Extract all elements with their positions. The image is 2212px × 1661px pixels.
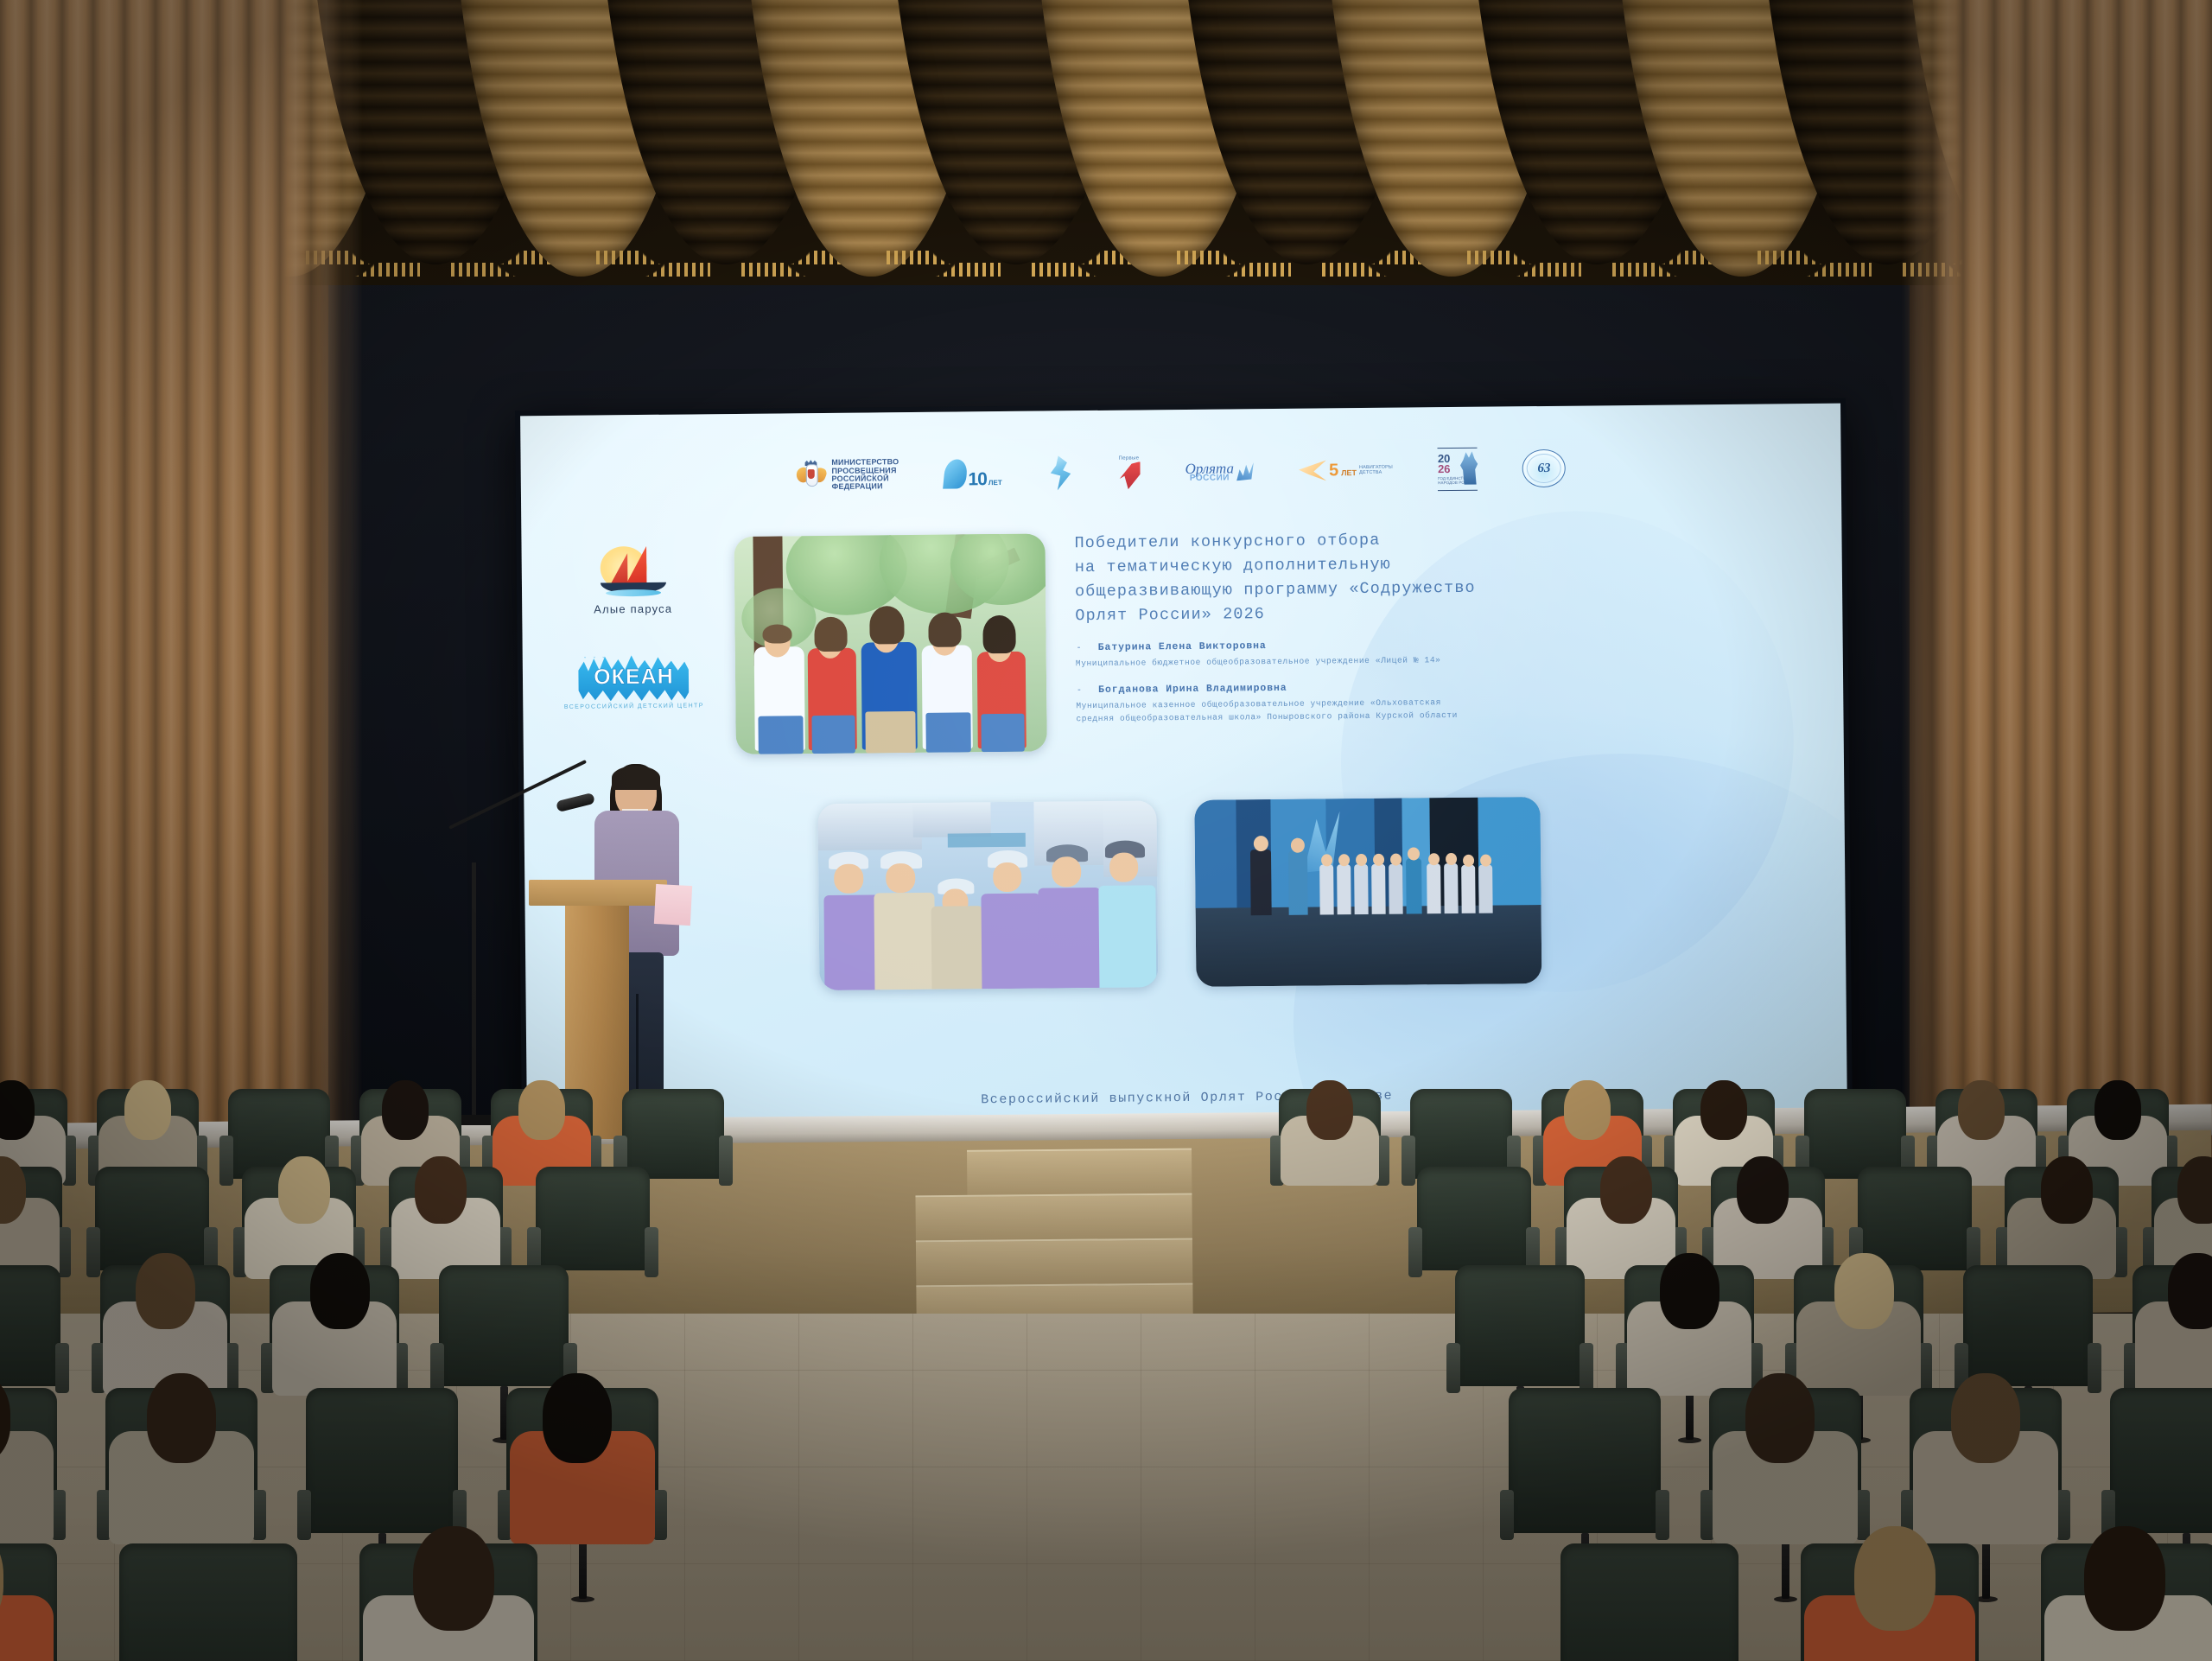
- winner-entry: - Богданова Ирина Владимировна Муниципал…: [1076, 678, 1750, 725]
- audience-member: [0, 1388, 57, 1533]
- logo-orlyata-rossii: Орлята РОССИИ: [1185, 461, 1254, 483]
- audience-member: [1711, 1167, 1825, 1270]
- audience-member: [0, 1167, 62, 1270]
- audience-member: [105, 1388, 257, 1533]
- auditorium-seat: [2110, 1388, 2212, 1533]
- audience-member-head: [147, 1373, 217, 1463]
- audience-member-head: [2094, 1080, 2141, 1140]
- entry-dash: -: [1077, 643, 1081, 653]
- audience-member-torso: [0, 1431, 54, 1544]
- audience-member-head: [543, 1373, 613, 1463]
- seat-armrest: [430, 1343, 444, 1393]
- seat-armrest: [1402, 1136, 1415, 1186]
- alye-parusa-label: Алые паруса: [594, 602, 672, 616]
- winner-organization: Муниципальное бюджетное общеобразователь…: [1076, 651, 1750, 671]
- slide-left-logos: Алые паруса ˯ ˯ ˯ ОКЕАН Всероссийский де…: [553, 544, 715, 710]
- seagulls-icon: ˯ ˯ ˯: [583, 648, 621, 662]
- audience-member-head: [0, 1080, 35, 1140]
- double-headed-eagle-icon: [796, 460, 825, 491]
- audience-member-head: [1951, 1373, 2021, 1463]
- circular-seal-icon: 63: [1522, 449, 1566, 487]
- audience-member-head: [124, 1080, 171, 1140]
- logo-ministry-of-education: МИНИСТЕРСТВО ПРОСВЕЩЕНИЯ РОССИЙСКОЙ ФЕДЕ…: [796, 458, 899, 492]
- seat-armrest: [1500, 1490, 1514, 1540]
- seat-armrest: [219, 1136, 233, 1186]
- photo-stage-ceremony: [1194, 797, 1541, 987]
- logo-prosvetitelstvo: 10 ЛЕТ: [944, 459, 1002, 489]
- auditorium-seat: [439, 1265, 569, 1386]
- seat-armrest: [297, 1490, 311, 1540]
- audience-member: [0, 1543, 57, 1661]
- audience-member-head: [1958, 1080, 2005, 1140]
- audience-member: [1935, 1089, 2037, 1179]
- seat-armrest: [1446, 1343, 1460, 1393]
- seat-armrest: [86, 1227, 100, 1277]
- audience-member-head: [415, 1156, 467, 1224]
- auditorium-seat: [1560, 1543, 1738, 1661]
- audience-member: [1709, 1388, 1861, 1533]
- auditorium-seat: [1509, 1388, 1661, 1533]
- seat-armrest: [1656, 1490, 1669, 1540]
- entry-dash: -: [1077, 684, 1081, 695]
- movement-icon: [1046, 455, 1072, 490]
- lectern-top: [529, 880, 667, 906]
- okean-word: ОКЕАН: [578, 664, 689, 690]
- slide-text-block: Победители конкурсного отбора на тематич…: [1074, 525, 1750, 726]
- seat-armrest: [645, 1227, 658, 1277]
- photo-children-on-bench: [734, 534, 1046, 754]
- slide-logo-strip: МИНИСТЕРСТВО ПРОСВЕЩЕНИЯ РОССИЙСКОЙ ФЕДЕ…: [520, 426, 1841, 519]
- audience-member-head: [2177, 1156, 2212, 1224]
- lectern-papers: [654, 884, 692, 926]
- presenter-fringe: [612, 766, 660, 790]
- audience-member: [389, 1167, 503, 1270]
- audience-member: [1564, 1167, 1678, 1270]
- audience-member-torso: [0, 1595, 54, 1661]
- seat-armrest: [1580, 1343, 1593, 1393]
- audience-member-head: [1834, 1253, 1894, 1329]
- audience-member-head: [2041, 1156, 2094, 1224]
- audience-member: [359, 1543, 537, 1661]
- seat-armrest: [1408, 1227, 1422, 1277]
- swoop-icon: [943, 459, 968, 488]
- presentation-slide: МИНИСТЕРСТВО ПРОСВЕЩЕНИЯ РОССИЙСКОЙ ФЕДЕ…: [520, 404, 1847, 1128]
- audience-member-head: [136, 1253, 195, 1329]
- logo-year-2026: 20 26 ГОД ЕДИНСТВА НАРОДОВ РОССИИ: [1438, 448, 1478, 491]
- wing-icon: [1236, 461, 1254, 480]
- audience-member: [100, 1265, 230, 1386]
- seat-armrest: [2088, 1343, 2101, 1393]
- nav5-sub: НАВИГАТОРЫ ДЕТСТВА: [1359, 465, 1393, 475]
- audience-member-head: [2084, 1526, 2166, 1631]
- auditorium-seat: [306, 1388, 458, 1533]
- audience-member-head: [278, 1156, 331, 1224]
- slide-title: Победители конкурсного отбора на тематич…: [1074, 525, 1749, 629]
- audience-member-head: [1306, 1080, 1353, 1140]
- audience-member: [491, 1089, 593, 1179]
- auditorium-seat: [536, 1167, 650, 1270]
- logo-alye-parusa: Алые паруса: [593, 544, 672, 616]
- audience-member: [1794, 1265, 1923, 1386]
- logo-okean: ˯ ˯ ˯ ОКЕАН Всероссийский детский центр: [563, 652, 704, 710]
- winner-organization: Муниципальное казенное общеобразовательн…: [1076, 692, 1750, 725]
- auditorium-seat: [1963, 1265, 2093, 1386]
- pervye-caption: Первые: [1119, 455, 1140, 461]
- auditorium-seat: [1417, 1167, 1531, 1270]
- audience-member-head: [382, 1080, 429, 1140]
- audience-member: [2041, 1543, 2212, 1661]
- auditorium-scene: МИНИСТЕРСТВО ПРОСВЕЩЕНИЯ РОССИЙСКОЙ ФЕДЕ…: [0, 0, 2212, 1661]
- emblem-number: 63: [1537, 461, 1550, 475]
- audience-member: [2133, 1265, 2212, 1386]
- audience-member: [1624, 1265, 1754, 1386]
- logo-movement-of-the-first: [1046, 455, 1072, 490]
- auditorium-seat: [1410, 1089, 1512, 1179]
- auditorium-seat: [0, 1265, 60, 1386]
- audience-member-head: [310, 1253, 370, 1329]
- auditorium-seat: [119, 1543, 297, 1661]
- paper-plane-icon: [1299, 459, 1326, 481]
- logo-emblem-63: 63: [1522, 449, 1566, 487]
- nav5-number: 5: [1329, 461, 1338, 479]
- auditorium-seat: [1455, 1265, 1585, 1386]
- winner-entry: - Батурина Елена Викторовна Муниципально…: [1076, 636, 1750, 671]
- audience-member-head: [1745, 1373, 1815, 1463]
- audience-member: [97, 1089, 199, 1179]
- seat-armrest: [55, 1343, 69, 1393]
- prosvet-unit: ЛЕТ: [988, 479, 1002, 487]
- audience-member-head: [2168, 1253, 2212, 1329]
- audience-member: [2005, 1167, 2119, 1270]
- nav5-unit: ЛЕТ: [1341, 468, 1357, 477]
- audience-member-head: [518, 1080, 565, 1140]
- orlyata-word2: РОССИИ: [1190, 473, 1230, 482]
- seat-armrest: [719, 1136, 733, 1186]
- audience-member-head: [1564, 1080, 1611, 1140]
- okean-sub: Всероссийский детский центр: [564, 703, 704, 710]
- auditorium-seat: [1804, 1089, 1906, 1179]
- logo-navigatory-detstva: 5 ЛЕТ НАВИГАТОРЫ ДЕТСТВА: [1299, 459, 1393, 482]
- logo-pervye: Первые: [1117, 455, 1140, 489]
- audience-member: [1801, 1543, 1979, 1661]
- prosvet-number: 10: [968, 470, 987, 488]
- audience-member-head: [413, 1526, 495, 1631]
- audience-member-head: [1854, 1526, 1936, 1631]
- audience-member: [506, 1388, 658, 1533]
- auditorium-seat: [622, 1089, 724, 1179]
- sailboat-icon: [594, 544, 671, 599]
- audience-member: [1910, 1388, 2062, 1533]
- audience-member-head: [1737, 1156, 1789, 1224]
- red-flag-icon: [1117, 461, 1140, 489]
- audience-member-head: [1600, 1156, 1653, 1224]
- ministry-label: МИНИСТЕРСТВО ПРОСВЕЩЕНИЯ РОССИЙСКОЙ ФЕДЕ…: [831, 458, 899, 491]
- audience-member-head: [1660, 1253, 1719, 1329]
- audience-member: [270, 1265, 399, 1386]
- audience-area: [0, 1020, 2212, 1661]
- photo-children-in-caps-clapping: [817, 800, 1158, 990]
- audience-member-head: [1700, 1080, 1747, 1140]
- audience-member: [1279, 1089, 1381, 1179]
